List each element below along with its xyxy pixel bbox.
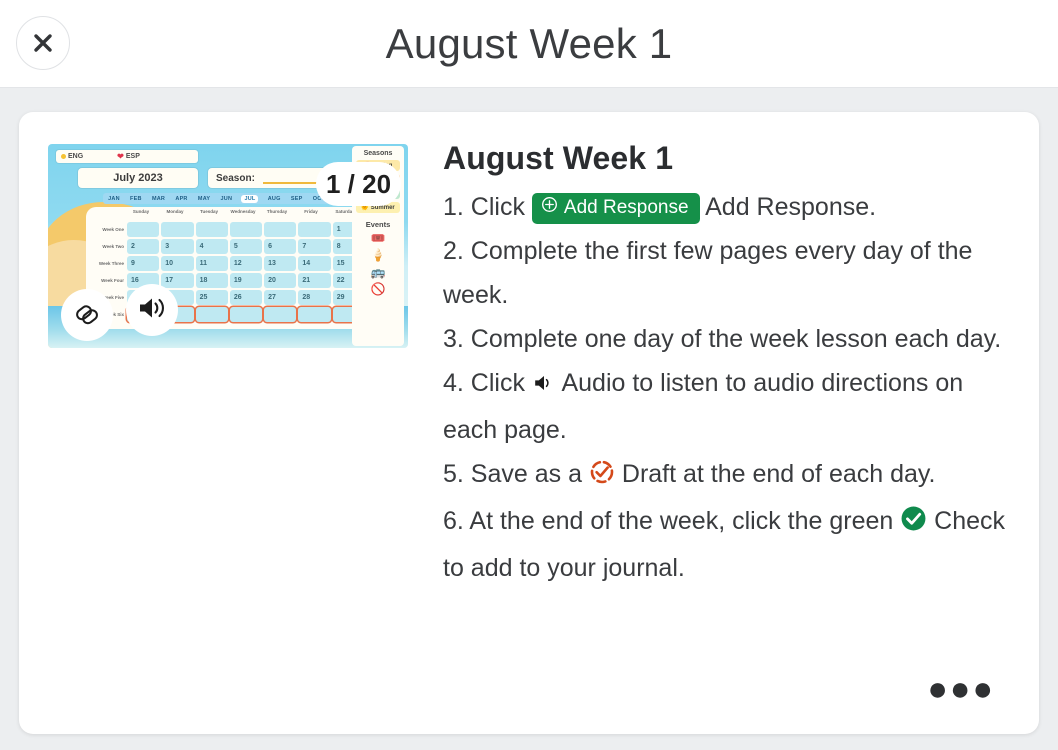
calendar-row: Week Four16171819202122 — [90, 272, 365, 289]
month-chip-aug: AUG — [267, 196, 282, 202]
add-response-button[interactable]: Add Response — [532, 193, 700, 224]
instructions-panel: August Week 1 1. Click Add Response Add … — [443, 140, 1013, 590]
calendar-day-header: Friday — [294, 209, 328, 221]
calendar-day-cell: 4 — [196, 239, 228, 254]
instruction-step-6: 6. At the end of the week, click the gre… — [443, 499, 1013, 590]
event-icon: 🍦 — [352, 248, 404, 263]
calendar-day-cell: 17 — [161, 273, 193, 288]
instruction-step-2: 2. Complete the first few pages every da… — [443, 229, 1013, 317]
instruction-step-1: 1. Click Add Response Add Response. — [443, 185, 1013, 229]
calendar-day-cell — [161, 222, 193, 237]
month-field: July 2023 — [78, 168, 198, 188]
calendar-day-cell: 27 — [264, 290, 296, 305]
calendar-day-header: Thursday — [260, 209, 294, 221]
calendar-week-label: Week Four — [90, 278, 127, 283]
event-icon: 🚌 — [352, 265, 404, 280]
step5-suffix: Draft at the end of each day. — [615, 460, 936, 488]
link-icon — [72, 298, 102, 333]
calendar-day-cell — [196, 222, 228, 237]
step1-suffix: Add Response. — [700, 193, 877, 221]
month-chip-may: MAY — [197, 196, 211, 202]
language-toggle-bar: ENG ❤ ESP — [56, 150, 198, 163]
calendar-day-cell: 9 — [127, 256, 159, 271]
close-icon — [31, 31, 55, 55]
calendar-day-cell: 25 — [196, 290, 228, 305]
slide-thumbnail[interactable]: ENG ❤ ESP July 2023 Season: JANFEBMARAPR… — [48, 144, 408, 348]
step5-prefix: 5. Save as a — [443, 460, 589, 488]
step4-prefix: 4. Click — [443, 369, 532, 397]
plus-circle-icon — [541, 195, 558, 221]
add-response-label: Add Response — [564, 195, 689, 221]
events-title: Events — [352, 220, 404, 229]
calendar-day-cell — [298, 222, 330, 237]
month-chip-jan: JAN — [107, 196, 121, 202]
seasons-title: Seasons — [352, 150, 404, 157]
draft-check-icon — [589, 455, 615, 499]
calendar-week-label: Week Two — [90, 244, 127, 249]
event-icon-list: 🎟️🍦🚌🚫 — [352, 231, 404, 297]
step1-prefix: 1. Click — [443, 193, 532, 221]
audio-speaker-icon — [532, 364, 556, 408]
eng-dot-icon — [61, 154, 66, 159]
calendar-day-cell: 5 — [230, 239, 262, 254]
calendar-day-cell: 26 — [230, 290, 262, 305]
audio-speaker-icon — [136, 293, 168, 328]
calendar-cells: 9101112131415 — [127, 256, 365, 271]
link-button[interactable] — [61, 289, 113, 341]
language-option-esp: ❤ ESP — [117, 153, 140, 161]
calendar-day-header: Sunday — [124, 209, 158, 221]
lang-eng-label: ENG — [68, 153, 83, 160]
calendar-day-cell: 14 — [298, 256, 330, 271]
language-option-eng: ENG — [61, 153, 83, 160]
calendar-day-cell — [230, 222, 262, 237]
page-title: August Week 1 — [0, 0, 1058, 88]
instruction-step-4: 4. Click Audio to listen to audio direct… — [443, 361, 1013, 452]
esp-heart-icon: ❤ — [117, 153, 124, 161]
calendar-day-cell: 7 — [298, 239, 330, 254]
event-icon: 🎟️ — [352, 231, 404, 246]
calendar-day-cell — [298, 307, 330, 322]
calendar-day-cell: 20 — [264, 273, 296, 288]
calendar-day-cell — [196, 307, 228, 322]
content-card: ENG ❤ ESP July 2023 Season: JANFEBMARAPR… — [19, 112, 1039, 734]
calendar-cells: 1 — [127, 222, 365, 237]
calendar-row: Week Two2345678 — [90, 238, 365, 255]
calendar-week-label: Week One — [90, 227, 127, 232]
modal-header: August Week 1 — [0, 0, 1058, 88]
calendar-week-label: Week Three — [90, 261, 127, 266]
calendar-day-cell: 3 — [161, 239, 193, 254]
month-chip-apr: APR — [174, 196, 188, 202]
calendar-cells: 2345678 — [127, 239, 365, 254]
calendar-day-cell: 6 — [264, 239, 296, 254]
calendar-row: Week Three9101112131415 — [90, 255, 365, 272]
event-icon: 🚫 — [352, 282, 404, 297]
calendar-day-header: Wednesday — [226, 209, 260, 221]
slide-thumbnail-container: ENG ❤ ESP July 2023 Season: JANFEBMARAPR… — [48, 144, 408, 348]
page-counter-badge: 1 / 20 — [316, 162, 401, 206]
audio-play-button[interactable] — [126, 284, 178, 336]
month-field-value: July 2023 — [113, 172, 163, 184]
instruction-step-3: 3. Complete one day of the week lesson e… — [443, 317, 1013, 361]
calendar-day-header: Monday — [158, 209, 192, 221]
month-chip-mar: MAR — [151, 196, 166, 202]
calendar-day-cell — [230, 307, 262, 322]
instructions-heading: August Week 1 — [443, 140, 1013, 177]
instruction-step-5: 5. Save as a Draft at the end of each da… — [443, 452, 1013, 499]
step6-prefix: 6. At the end of the week, click the gre… — [443, 507, 900, 535]
calendar-day-cell: 19 — [230, 273, 262, 288]
calendar-day-cell: 21 — [298, 273, 330, 288]
calendar-day-cell: 18 — [196, 273, 228, 288]
calendar-day-cell: 11 — [196, 256, 228, 271]
green-check-icon — [900, 502, 927, 546]
more-options-icon[interactable]: ●●● — [927, 684, 995, 694]
calendar-day-cell — [127, 222, 159, 237]
close-button[interactable] — [16, 16, 70, 70]
calendar-row: Week One1 — [90, 221, 365, 238]
calendar-day-cell: 28 — [298, 290, 330, 305]
calendar-day-cell: 13 — [264, 256, 296, 271]
month-chip-sep: SEP — [290, 196, 304, 202]
calendar-day-headers: SundayMondayTuesdayWednesdayThursdayFrid… — [124, 209, 362, 221]
calendar-day-cell — [264, 307, 296, 322]
lang-esp-label: ESP — [126, 153, 140, 160]
calendar-day-cell: 12 — [230, 256, 262, 271]
month-selector-strip: JANFEBMARAPRMAYJUNJULAUGSEPOCTNOV — [103, 193, 353, 204]
month-chip-jun: JUN — [220, 196, 234, 202]
month-chip-feb: FEB — [129, 196, 143, 202]
calendar-day-cell: 2 — [127, 239, 159, 254]
calendar-day-cell: 10 — [161, 256, 193, 271]
season-field-label: Season: — [216, 173, 255, 184]
calendar-day-header: Tuesday — [192, 209, 226, 221]
calendar-day-cell — [264, 222, 296, 237]
month-chip-jul: JUL — [241, 195, 258, 203]
